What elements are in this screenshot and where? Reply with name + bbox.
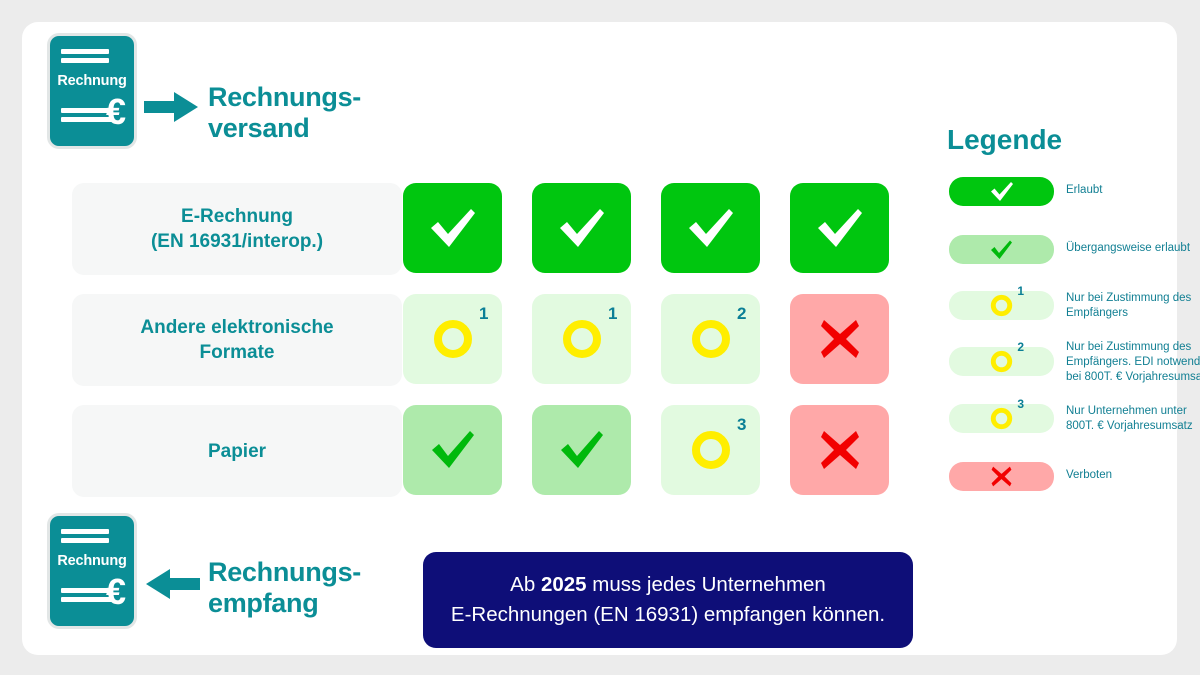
invoice-line-1 bbox=[61, 49, 109, 54]
check-icon bbox=[557, 428, 607, 472]
invoice-euro-symbol-send: € bbox=[106, 94, 126, 130]
flow-title-send-line2: versand bbox=[208, 113, 361, 144]
flow-title-receive-line1: Rechnungs- bbox=[208, 557, 361, 588]
year-header-2028-label: 2028 bbox=[812, 120, 868, 149]
cell-papier-2026[interactable] bbox=[532, 405, 631, 495]
check-icon bbox=[427, 205, 479, 251]
row-label-e-rechnung: E-Rechnung (EN 16931/interop.) bbox=[72, 183, 402, 275]
check-icon bbox=[428, 428, 478, 472]
flow-title-receive: Rechnungs- empfang bbox=[208, 557, 361, 619]
cell-e-rechnung-2026[interactable] bbox=[532, 183, 631, 273]
flow-title-send-line1: Rechnungs- bbox=[208, 82, 361, 113]
invoice-line-2 bbox=[61, 58, 109, 63]
year-header-2027-label: 2027 bbox=[683, 120, 739, 149]
banner-year: 2025 bbox=[541, 573, 587, 596]
invoice-icon-label-receive: Rechnung bbox=[50, 553, 134, 569]
cell-e-rechnung-2028[interactable] bbox=[790, 183, 889, 273]
legend-swatch-conditional-3: 3 bbox=[949, 404, 1054, 433]
year-header-2028[interactable]: 2028 bbox=[790, 90, 889, 179]
check-icon bbox=[556, 205, 608, 251]
year-header-2026-label: 2026 bbox=[554, 120, 610, 149]
year-header-2027[interactable]: 2027 bbox=[661, 90, 760, 179]
invoice-document-icon-receive: Rechnung € bbox=[50, 516, 134, 626]
banner-notice: Ab 2025 muss jedes Unternehmen E-Rechnun… bbox=[423, 552, 913, 648]
check-icon bbox=[685, 205, 737, 251]
invoice-document-icon-send: Rechnung € bbox=[50, 36, 134, 146]
check-icon bbox=[989, 239, 1014, 261]
year-header-2025[interactable]: 2025 bbox=[403, 90, 502, 179]
legend-title: Legende bbox=[947, 124, 1062, 156]
cell-e-rechnung-2027[interactable] bbox=[661, 183, 760, 273]
circle-icon: 3 bbox=[990, 407, 1013, 430]
circle-icon: 1 bbox=[561, 318, 603, 360]
legend-label-zustimmung-1: Nur bei Zustimmung des Empfängers bbox=[1066, 291, 1200, 321]
year-header-2025-label: 2025 bbox=[425, 120, 481, 149]
invoice-line-2 bbox=[61, 538, 109, 543]
banner-text-before: Ab bbox=[510, 573, 541, 596]
infographic-card: Rechnung € Rechnungs- versand 2025 2026 … bbox=[22, 22, 1177, 655]
circle-icon: 1 bbox=[432, 318, 474, 360]
circle-icon: 2 bbox=[990, 350, 1013, 373]
cross-icon bbox=[990, 465, 1013, 488]
cell-e-rechnung-2025[interactable] bbox=[403, 183, 502, 273]
row-label-e-rechnung-line1: E-Rechnung bbox=[151, 204, 323, 229]
check-icon bbox=[989, 180, 1015, 203]
banner-text-after: muss jedes Unternehmen bbox=[587, 573, 826, 596]
legend-swatch-conditional-1: 1 bbox=[949, 291, 1054, 320]
invoice-euro-symbol-receive: € bbox=[106, 574, 126, 610]
superscript-marker: 2 bbox=[1017, 341, 1024, 353]
flow-title-receive-line2: empfang bbox=[208, 588, 361, 619]
row-label-papier-line1: Papier bbox=[208, 439, 266, 464]
flow-title-send: Rechnungs- versand bbox=[208, 82, 361, 144]
cross-icon bbox=[818, 317, 862, 361]
row-label-andere-formate-line1: Andere elektronische bbox=[140, 315, 333, 340]
cell-papier-2027[interactable]: 3 bbox=[661, 405, 760, 495]
arrow-left-icon bbox=[144, 567, 200, 601]
cell-andere-formate-2027[interactable]: 2 bbox=[661, 294, 760, 384]
invoice-line-1 bbox=[61, 529, 109, 534]
row-label-e-rechnung-line2: (EN 16931/interop.) bbox=[151, 229, 323, 254]
legend-label-unternehmen-3: Nur Unternehmen unter 800T. € Vorjahresu… bbox=[1066, 404, 1200, 434]
circle-icon: 1 bbox=[990, 294, 1013, 317]
cell-andere-formate-2028[interactable] bbox=[790, 294, 889, 384]
superscript-marker: 3 bbox=[737, 416, 746, 433]
banner-line2: E-Rechnungen (EN 16931) empfangen können… bbox=[451, 600, 885, 630]
cross-icon bbox=[818, 428, 862, 472]
arrow-right-icon bbox=[144, 90, 200, 124]
legend-label-verboten: Verboten bbox=[1066, 468, 1200, 483]
legend-label-erlaubt: Erlaubt bbox=[1066, 183, 1200, 198]
superscript-marker: 3 bbox=[1017, 398, 1024, 410]
invoice-icon-label-send: Rechnung bbox=[50, 73, 134, 89]
legend-label-uebergangsweise: Übergangsweise erlaubt bbox=[1066, 241, 1200, 256]
circle-icon: 3 bbox=[690, 429, 732, 471]
superscript-marker: 1 bbox=[1017, 285, 1024, 297]
legend-swatch-conditional-2: 2 bbox=[949, 347, 1054, 376]
superscript-marker: 2 bbox=[737, 305, 746, 322]
superscript-marker: 1 bbox=[479, 305, 488, 322]
circle-icon: 2 bbox=[690, 318, 732, 360]
row-label-andere-formate: Andere elektronische Formate bbox=[72, 294, 402, 386]
superscript-marker: 1 bbox=[608, 305, 617, 322]
banner-line1: Ab 2025 muss jedes Unternehmen bbox=[451, 570, 885, 600]
legend-swatch-allowed bbox=[949, 177, 1054, 206]
cell-papier-2025[interactable] bbox=[403, 405, 502, 495]
legend-label-zustimmung-2: Nur bei Zustimmung des Empfängers. EDI n… bbox=[1066, 340, 1200, 385]
cell-papier-2028[interactable] bbox=[790, 405, 889, 495]
legend-swatch-forbidden bbox=[949, 462, 1054, 491]
legend-swatch-transitional bbox=[949, 235, 1054, 264]
cell-andere-formate-2025[interactable]: 1 bbox=[403, 294, 502, 384]
row-label-papier: Papier bbox=[72, 405, 402, 497]
check-icon bbox=[814, 205, 866, 251]
cell-andere-formate-2026[interactable]: 1 bbox=[532, 294, 631, 384]
year-header-2026[interactable]: 2026 bbox=[532, 90, 631, 179]
row-label-andere-formate-line2: Formate bbox=[140, 340, 333, 365]
